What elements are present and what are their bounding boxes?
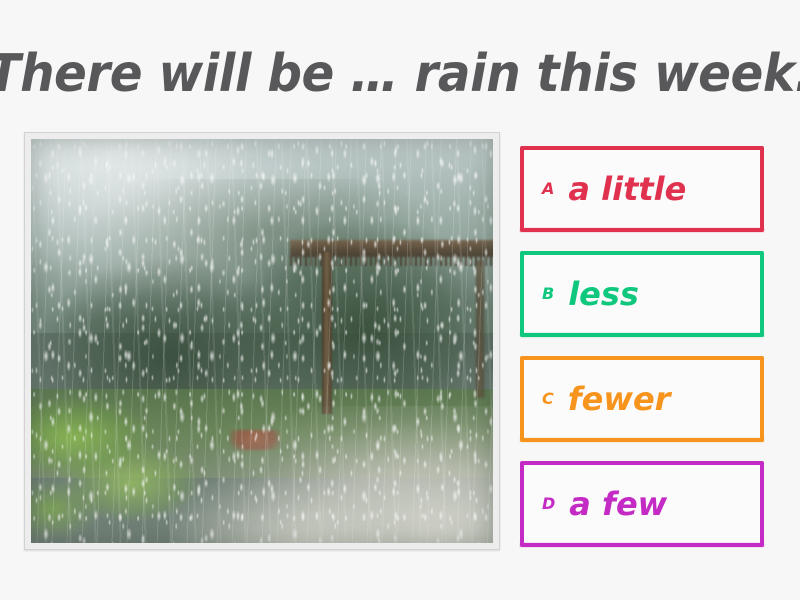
answer-option-b[interactable]: B less: [520, 251, 764, 337]
answer-option-c[interactable]: C fewer: [520, 356, 764, 442]
page-title: There will be … rain this week.: [28, 36, 772, 112]
answer-option-a[interactable]: A a little: [520, 146, 764, 232]
answer-letter-b: B: [542, 286, 554, 302]
answer-text-a: a little: [568, 173, 686, 205]
answer-text-b: less: [568, 278, 639, 310]
answer-letter-a: A: [542, 181, 554, 197]
photo-vignette: [31, 139, 493, 543]
rain-photo: [31, 139, 493, 543]
answer-text-c: fewer: [568, 383, 671, 415]
answer-letter-c: C: [542, 391, 554, 407]
rain-photo-frame: [24, 132, 500, 550]
answer-letter-d: D: [542, 496, 555, 512]
answer-text-d: a few: [569, 488, 667, 520]
answer-options-list: A a little B less C fewer D a few: [520, 146, 764, 547]
answer-option-d[interactable]: D a few: [520, 461, 764, 547]
quiz-slide: There will be … rain this week. A a litt…: [0, 0, 800, 600]
